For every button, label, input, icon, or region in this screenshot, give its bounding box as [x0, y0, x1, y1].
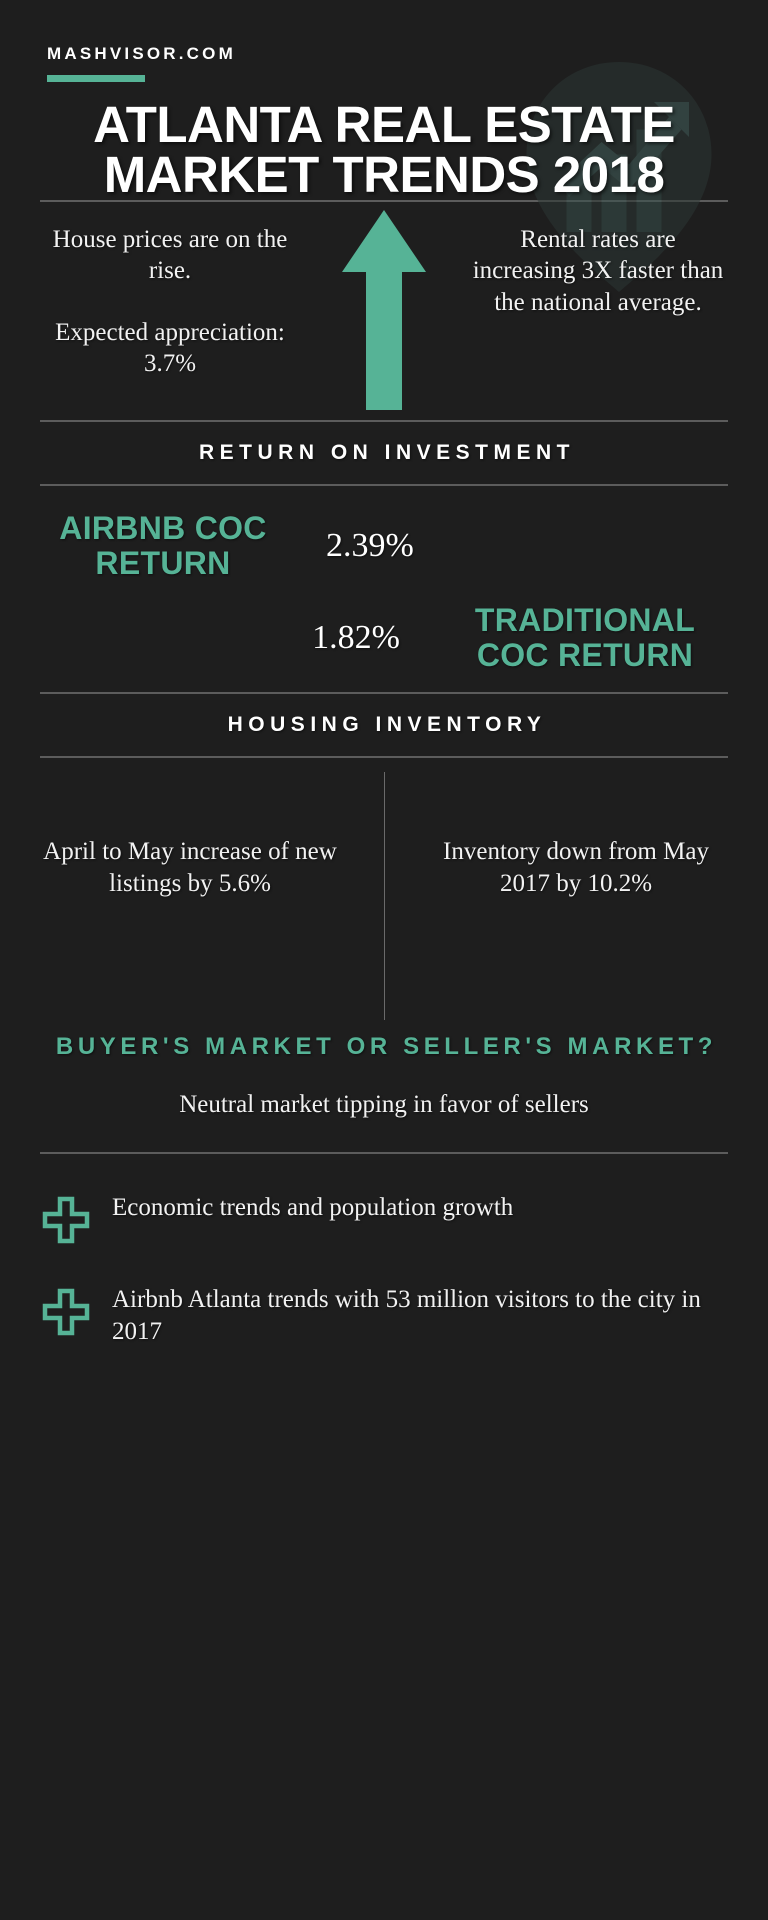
market-question: BUYER'S MARKET OR SELLER'S MARKET? — [38, 1030, 730, 1063]
brand-accent-bar — [47, 75, 145, 82]
list-item-text: Airbnb Atlanta trends with 53 million vi… — [112, 1282, 730, 1349]
airbnb-coc-label: AIRBNB COC RETURN — [38, 511, 288, 580]
list-item: Economic trends and population growth — [38, 1190, 730, 1244]
inventory-section: April to May increase of new listings by… — [38, 758, 730, 1026]
infographic-page: MASHVISOR.COM ATLANTA REAL ESTATE MARKET… — [0, 0, 768, 1920]
airbnb-coc-value: 2.39% — [326, 527, 414, 565]
list-item: Airbnb Atlanta trends with 53 million vi… — [38, 1282, 730, 1349]
up-arrow-icon — [342, 210, 426, 410]
rental-rate-column: Rental rates are increasing 3X faster th… — [462, 224, 730, 319]
price-rent-section: House prices are on the rise. Expected a… — [38, 202, 730, 420]
roi-section: AIRBNB COC RETURN 2.39% 1.82% TRADITIONA… — [38, 486, 730, 692]
inventory-section-title: HOUSING INVENTORY — [38, 694, 730, 756]
house-price-column: House prices are on the rise. Expected a… — [38, 224, 306, 380]
page-title: ATLANTA REAL ESTATE MARKET TRENDS 2018 — [38, 100, 730, 200]
traditional-coc-value: 1.82% — [312, 619, 400, 657]
plus-icon — [42, 1288, 90, 1336]
expected-appreciation: Expected appreciation: 3.7% — [38, 317, 302, 380]
market-answer: Neutral market tipping in favor of selle… — [38, 1089, 730, 1122]
new-listings-stat: April to May increase of new listings by… — [38, 836, 384, 942]
inventory-vertical-divider — [384, 772, 385, 1020]
traditional-coc-label: TRADITIONAL COC RETURN — [440, 603, 730, 672]
market-type-section: BUYER'S MARKET OR SELLER'S MARKET? Neutr… — [38, 1026, 730, 1152]
roi-row: 1.82% TRADITIONAL COC RETURN — [38, 592, 730, 684]
list-item-text: Economic trends and population growth — [112, 1190, 513, 1225]
inventory-down-stat: Inventory down from May 2017 by 10.2% — [384, 836, 730, 942]
rental-rate-main: Rental rates are increasing 3X faster th… — [466, 224, 730, 319]
roi-section-title: RETURN ON INVESTMENT — [38, 422, 730, 484]
page-header: MASHVISOR.COM ATLANTA REAL ESTATE MARKET… — [38, 0, 730, 200]
plus-icon — [42, 1196, 90, 1244]
roi-row: AIRBNB COC RETURN 2.39% — [38, 500, 730, 592]
brand-name: MASHVISOR.COM — [38, 44, 730, 64]
factors-list: Economic trends and population growth Ai… — [38, 1154, 730, 1349]
house-price-main: House prices are on the rise. — [38, 224, 302, 287]
